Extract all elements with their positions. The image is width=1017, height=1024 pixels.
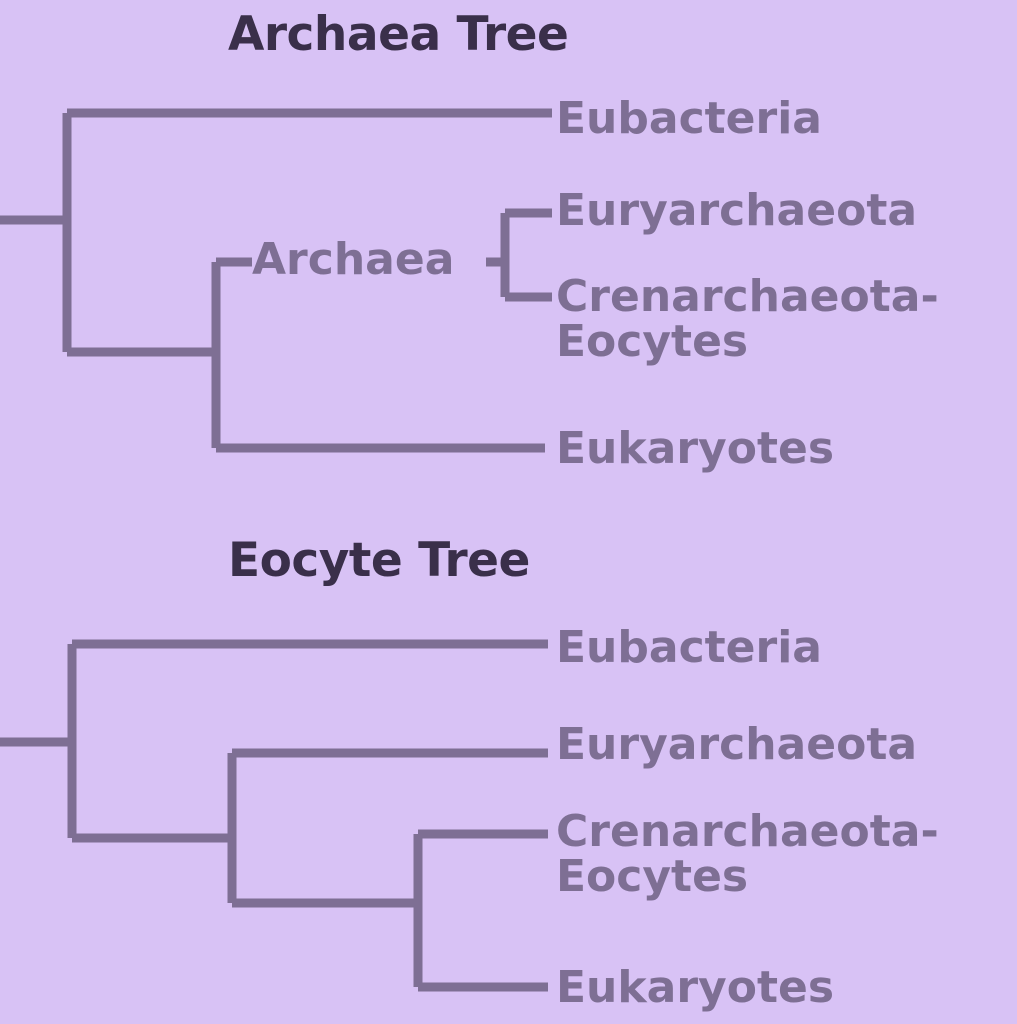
archaea-leaf-eukaryotes: Eukaryotes — [556, 427, 834, 470]
archaea-internal-node-label: Archaea — [252, 238, 454, 282]
eocyte-leaf-crenarchaeota-line2: Eocytes — [556, 855, 1017, 898]
archaea-leaf-crenarchaeota-line2: Eocytes — [556, 320, 1017, 363]
archaea-leaf-eubacteria: Eubacteria — [556, 97, 822, 140]
archaea-leaf-crenarchaeota-line1: Crenarchaeota- — [556, 271, 939, 322]
eocyte-leaf-crenarchaeota-eocytes: Crenarchaeota- Eocytes — [556, 810, 1017, 898]
eocyte-leaf-eubacteria: Eubacteria — [556, 626, 822, 669]
archaea-leaf-euryarchaeota: Euryarchaeota — [556, 189, 917, 232]
archaea-tree-title: Archaea Tree — [228, 11, 568, 58]
eocyte-leaf-eukaryotes: Eukaryotes — [556, 966, 834, 1009]
eocyte-leaf-euryarchaeota: Euryarchaeota — [556, 723, 917, 766]
eocyte-leaf-crenarchaeota-line1: Crenarchaeota- — [556, 806, 939, 857]
eocyte-tree-title: Eocyte Tree — [228, 537, 530, 584]
archaea-leaf-crenarchaeota-eocytes: Crenarchaeota- Eocytes — [556, 275, 1017, 363]
phylogenetic-trees-figure: Archaea Tree Eubacteria Euryarchaeota Cr… — [0, 0, 1017, 1024]
